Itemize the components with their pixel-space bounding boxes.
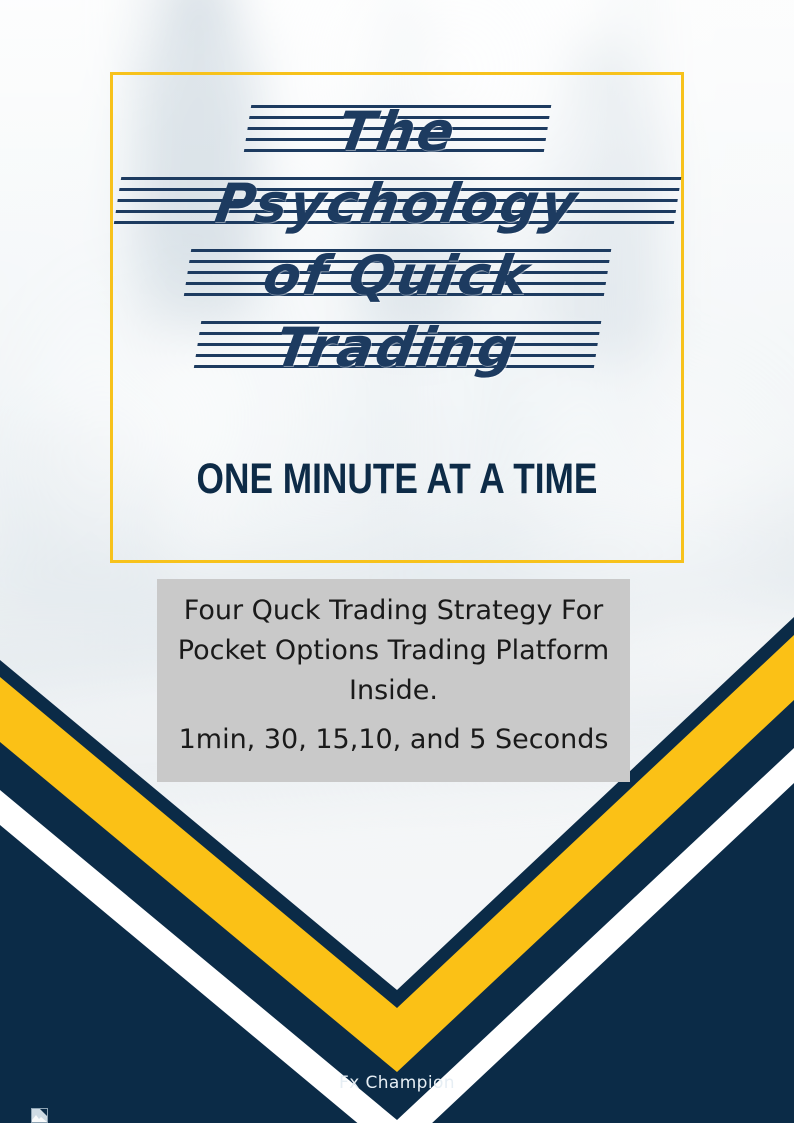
poster-title: The Psychology of Quick Trading	[110, 105, 684, 393]
title-line-1-text: The	[334, 105, 460, 159]
poster-subtitle: ONE MINUTE AT A TIME	[162, 455, 633, 504]
poster-canvas: The Psychology of Quick Trading ONE MINU…	[0, 0, 794, 1123]
title-line-4-text: Trading	[272, 321, 523, 375]
description-box: Four Quck Trading Strategy For Pocket Op…	[157, 579, 630, 782]
title-line-2-text: Psychology	[212, 177, 583, 231]
footer-brand: Fx Champion	[0, 1073, 794, 1093]
title-line-3: of Quick	[110, 249, 684, 303]
title-line-1: The	[110, 105, 684, 159]
broken-image-icon	[31, 1108, 48, 1123]
title-line-4: Trading	[110, 321, 684, 375]
description-sub-text: 1min, 30, 15,10, and 5 Seconds	[165, 721, 622, 759]
description-main-text: Four Quck Trading Strategy For Pocket Op…	[165, 591, 622, 711]
title-line-3-text: of Quick	[260, 249, 535, 303]
title-line-2: Psychology	[110, 177, 684, 231]
